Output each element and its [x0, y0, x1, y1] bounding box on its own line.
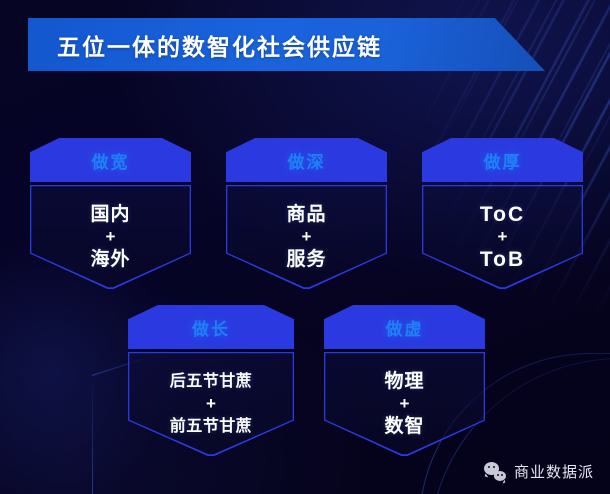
slide-canvas: 五位一体的数智化社会供应链 做宽 国内 + 海外 做深 商品 + 服务 做厚 T…	[0, 0, 610, 494]
card-body: 商品 + 服务	[226, 185, 387, 289]
card-body: 物理 + 数智	[324, 352, 485, 456]
card-header-label: 做虚	[386, 315, 424, 340]
card-body-plus: +	[302, 227, 312, 247]
card-body-plus: +	[498, 227, 508, 247]
card-body: 后五节甘蔗 + 前五节甘蔗	[128, 352, 294, 456]
card-body-line-2: 数智	[384, 414, 424, 439]
card-header-label: 做宽	[92, 148, 130, 173]
hairline-vertical	[92, 374, 93, 494]
concept-card-long: 做长 后五节甘蔗 + 前五节甘蔗	[128, 305, 294, 456]
card-body-line-1: 商品	[286, 202, 326, 227]
concept-card-thick: 做厚 ToC + ToB	[422, 138, 583, 289]
card-header: 做深	[226, 138, 387, 182]
watermark: 商业数据派	[484, 461, 594, 482]
card-body-plus: +	[206, 394, 216, 414]
card-body-line-2: 海外	[90, 247, 130, 272]
concept-card-virtual: 做虚 物理 + 数智	[324, 305, 485, 456]
card-body-line-1: 国内	[90, 202, 130, 227]
card-header: 做厚	[422, 138, 583, 182]
card-header-label: 做长	[192, 315, 230, 340]
card-body-line-1: ToC	[480, 202, 525, 227]
page-title: 五位一体的数智化社会供应链	[57, 28, 382, 62]
card-header: 做宽	[30, 138, 191, 182]
card-body-plus: +	[106, 227, 116, 247]
card-header-label: 做深	[288, 148, 326, 173]
card-header: 做虚	[324, 305, 485, 349]
concept-card-deep: 做深 商品 + 服务	[226, 138, 387, 289]
card-body-line-2: 前五节甘蔗	[170, 414, 253, 439]
wechat-icon	[484, 462, 506, 481]
card-header: 做长	[128, 305, 294, 349]
card-body-line-1: 物理	[384, 369, 424, 394]
card-body-plus: +	[400, 394, 410, 414]
card-body-line-1: 后五节甘蔗	[170, 369, 253, 394]
title-banner: 五位一体的数智化社会供应链	[28, 18, 545, 71]
card-body: 国内 + 海外	[30, 185, 191, 289]
card-body: ToC + ToB	[422, 185, 583, 289]
concept-card-wide: 做宽 国内 + 海外	[30, 138, 191, 289]
watermark-account-name: 商业数据派	[514, 461, 594, 482]
card-body-line-2: 服务	[286, 247, 326, 272]
card-header-label: 做厚	[484, 148, 522, 173]
card-body-line-2: ToB	[480, 247, 525, 272]
